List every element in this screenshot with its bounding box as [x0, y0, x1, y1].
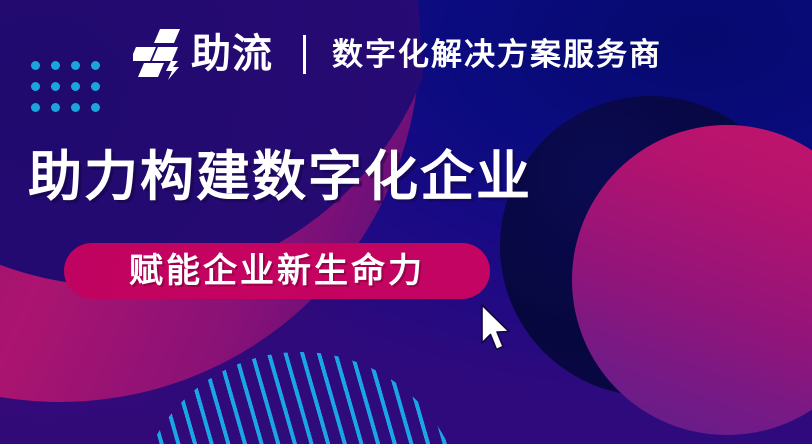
cta-pill-button[interactable]: 赋能企业新生命力 — [64, 243, 490, 299]
brand-tagline: 数字化解决方案服务商 — [332, 39, 662, 70]
logo-wordmark: 助流 — [191, 34, 273, 74]
page-title: 助力构建数字化企业 — [28, 150, 532, 204]
promo-banner: 助流 数字化解决方案服务商 助力构建数字化企业 赋能企业新生命力 — [0, 0, 812, 444]
zhuliu-lightning-blocks-logo-icon — [133, 27, 187, 81]
cyan-dot-grid — [31, 61, 111, 124]
grid-dot — [31, 103, 40, 112]
grid-dot — [71, 103, 80, 112]
header-divider — [303, 35, 306, 74]
brand-header: 助流 数字化解决方案服务商 — [133, 24, 662, 84]
grid-dot — [91, 103, 100, 112]
grid-dot — [51, 103, 60, 112]
grid-dot — [71, 82, 80, 91]
grid-dot — [31, 82, 40, 91]
fan-stripe-pattern — [135, 352, 465, 444]
grid-dot — [51, 82, 60, 91]
grid-dot — [71, 61, 80, 70]
cta-pill-label: 赋能企业新生命力 — [129, 254, 425, 288]
diagonal-line-fan — [135, 352, 465, 444]
grid-dot — [91, 82, 100, 91]
grid-dot — [91, 61, 100, 70]
fan-clip-circle — [135, 352, 465, 444]
grid-dot — [51, 61, 60, 70]
grid-dot — [31, 61, 40, 70]
